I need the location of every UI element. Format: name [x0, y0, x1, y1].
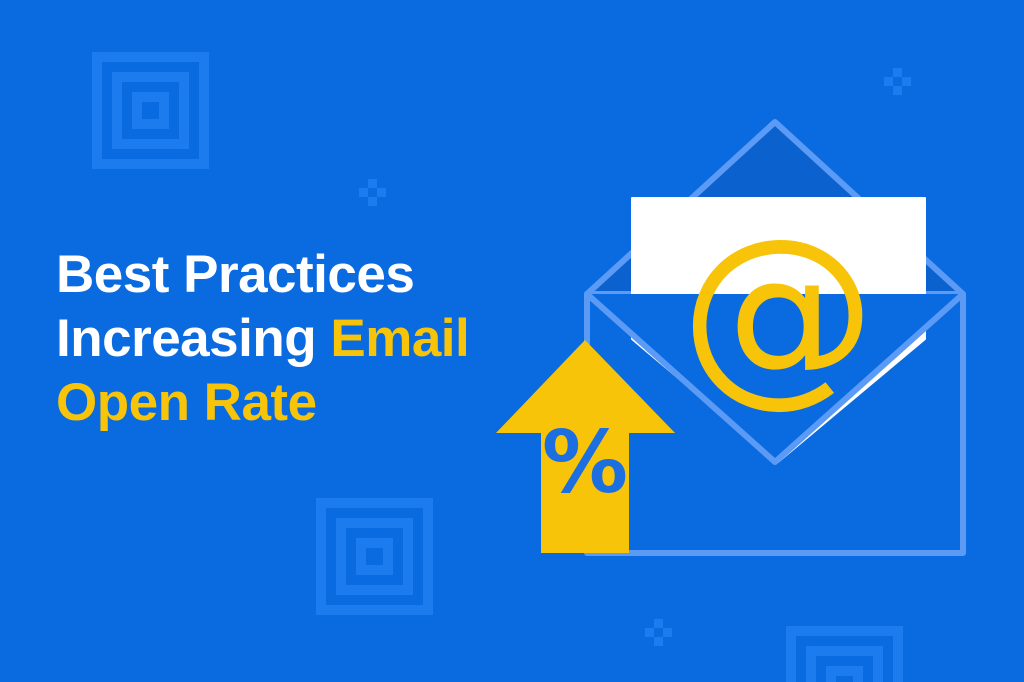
headline: Best Practices Increasing Email Open Rat… [56, 243, 526, 435]
headline-line-1: Best Practices [56, 243, 526, 307]
svg-text:@: @ [680, 197, 876, 425]
headline-line-2: Increasing Email [56, 307, 526, 371]
headline-line-3-accent-text: Open Rate [56, 373, 317, 432]
email-open-rate-banner: @ % Best Practices Increasing Email Open… [0, 0, 1024, 682]
headline-line-2-accent-text: Email [330, 309, 469, 368]
headline-line-2-white-text: Increasing [56, 309, 330, 368]
at-symbol-icon: @ [680, 197, 876, 425]
headline-line-1-text: Best Practices [56, 245, 414, 304]
headline-line-3: Open Rate [56, 371, 526, 435]
percent-symbol-label: % [542, 413, 628, 513]
